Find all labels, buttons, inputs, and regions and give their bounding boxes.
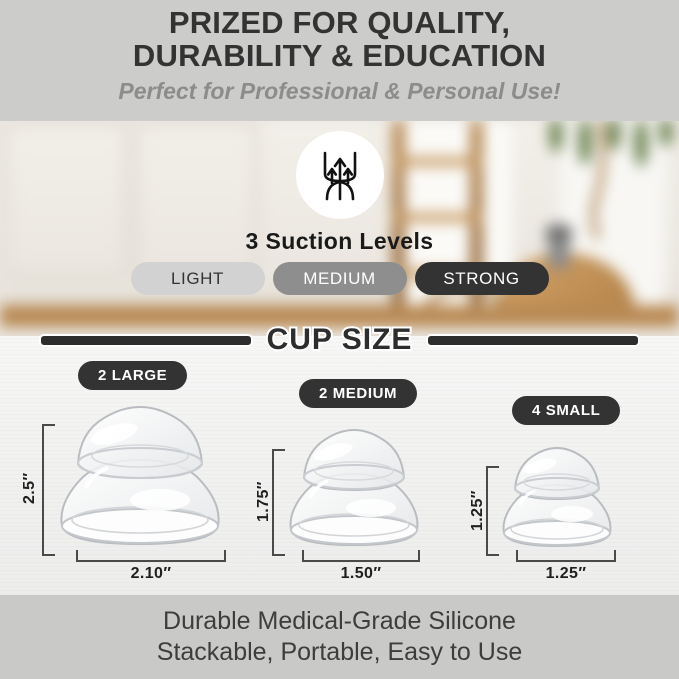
suction-cup-arrows-icon (314, 147, 366, 203)
cup-tag-medium[interactable]: 2 MEDIUM (299, 379, 417, 408)
cup-tag-large[interactable]: 2 LARGE (78, 361, 187, 390)
header-banner: PRIZED FOR QUALITY, DURABILITY & EDUCATI… (0, 0, 679, 121)
banner-rule-right (426, 334, 640, 347)
footer-line-1: Durable Medical-Grade Silicone (163, 606, 516, 637)
headline-subtitle: Perfect for Professional & Personal Use! (118, 78, 560, 104)
dimension-line-large-width (76, 560, 226, 562)
silicone-cup-large-icon (52, 400, 228, 552)
headline-line-2: DURABILITY & EDUCATION (133, 39, 546, 72)
suction-level-light[interactable]: LIGHT (131, 262, 265, 295)
suction-icon-badge (296, 131, 384, 219)
silicone-cup-small-icon (496, 442, 618, 552)
dimension-label-small-height: 1.25″ (469, 479, 487, 531)
footer-banner: Durable Medical-Grade Silicone Stackable… (0, 595, 679, 679)
suction-level-medium[interactable]: MEDIUM (273, 262, 407, 295)
silicone-cup-medium-icon (282, 424, 426, 552)
dimension-label-medium-width: 1.50″ (302, 565, 420, 583)
dimension-label-large-width: 2.10″ (76, 565, 226, 583)
headline-line-1: PRIZED FOR QUALITY, (169, 6, 510, 39)
cup-small-image (496, 442, 618, 557)
dimension-line-medium-width (302, 560, 420, 562)
dimension-label-large-height: 2.5″ (21, 458, 39, 504)
dimension-label-small-width: 1.25″ (516, 565, 616, 583)
cup-size-title: CUP SIZE (267, 323, 413, 357)
footer-line-2: Stackable, Portable, Easy to Use (157, 637, 522, 668)
cup-large-image (52, 400, 228, 557)
dimension-line-large-height (42, 424, 44, 554)
suction-level-strong[interactable]: STRONG (415, 262, 549, 295)
cup-tag-small[interactable]: 4 SMALL (512, 396, 620, 425)
dimension-line-small-width (516, 560, 616, 562)
dimension-label-medium-height: 1.75″ (255, 470, 273, 522)
banner-rule-left (39, 334, 253, 347)
cup-medium-image (282, 424, 426, 557)
suction-levels-title: 3 Suction Levels (0, 228, 679, 255)
suction-levels-row: LIGHT MEDIUM STRONG (0, 262, 679, 295)
cup-size-banner: CUP SIZE (0, 318, 679, 362)
